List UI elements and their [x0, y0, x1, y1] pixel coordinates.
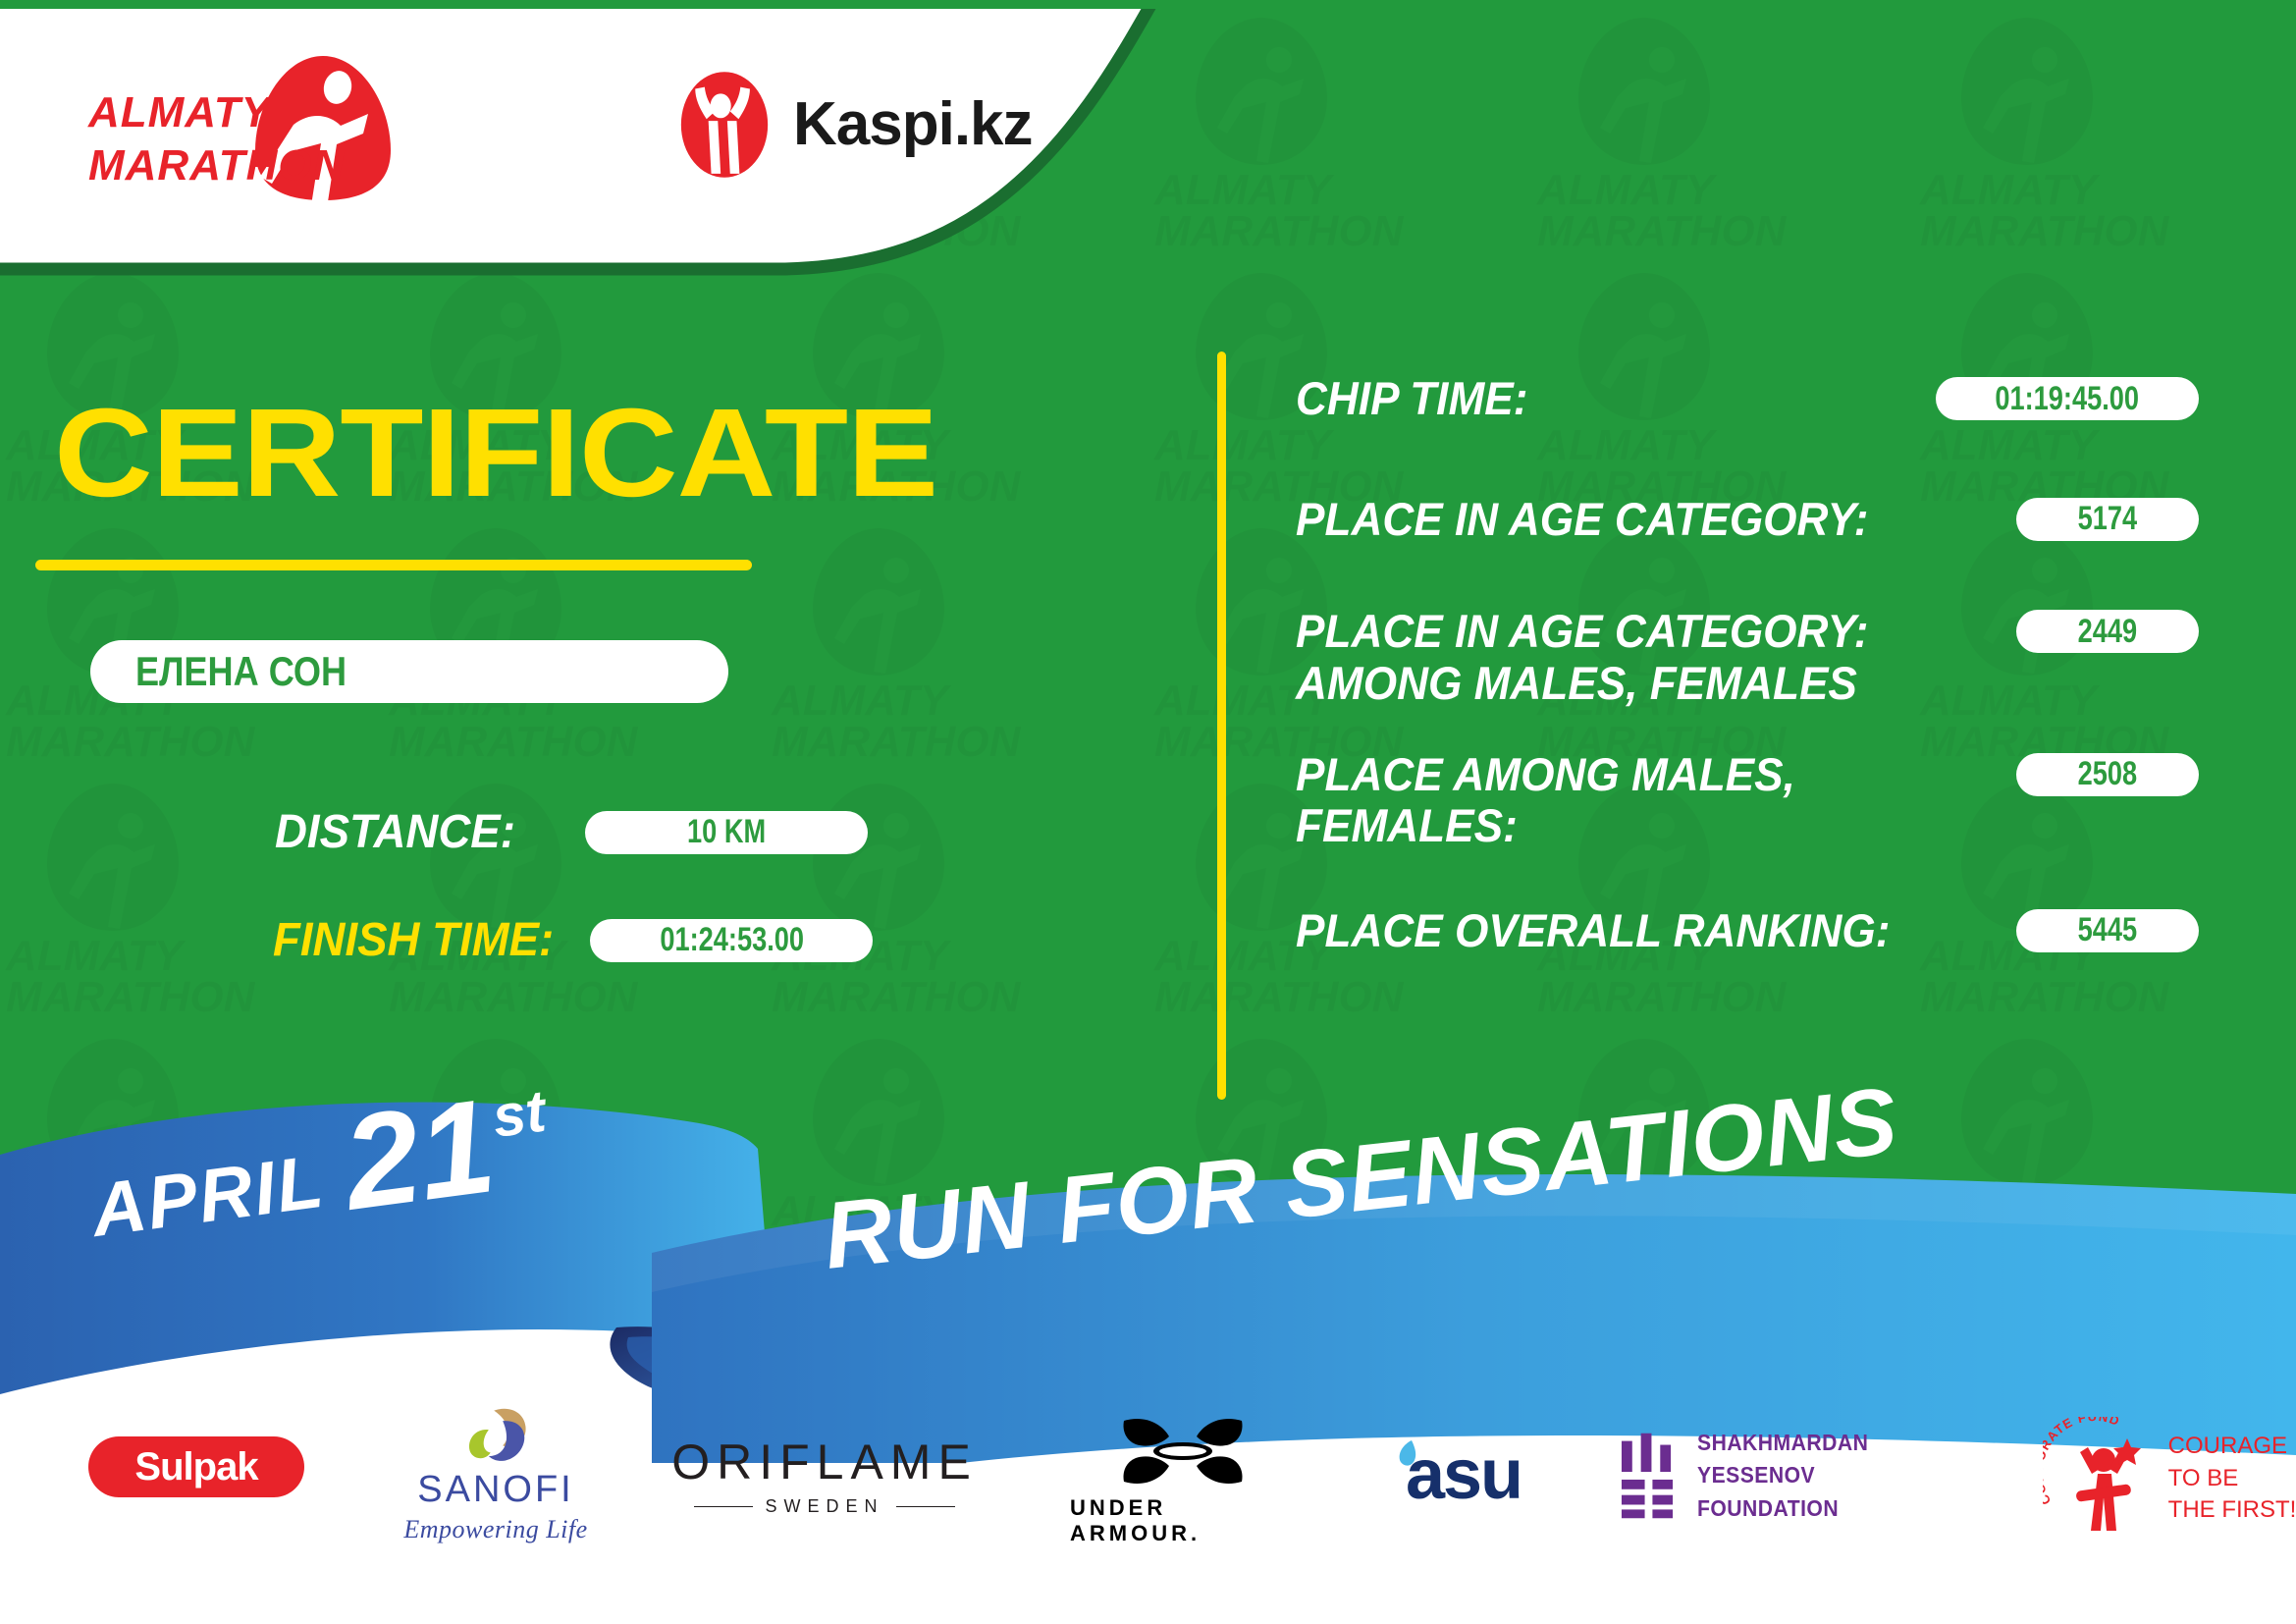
stat-row-place-age-category-gender: PLACE IN AGE CATEGORY: AMONG MALES, FEMA…: [1296, 606, 2199, 709]
courage-line-2: TO BE: [2168, 1463, 2296, 1494]
under-armour-wordmark: UNDER ARMOUR.: [1070, 1495, 1296, 1546]
kaspi-logo: Kaspi.kz: [677, 66, 1099, 184]
sponsor-logo-courage-fund: CORPORATE FUND COURAGE TO BE THE FIRST!: [2042, 1405, 2296, 1552]
distance-row: DISTANCE: 10 KM: [275, 805, 868, 859]
oriflame-wordmark: ORIFLAME: [671, 1437, 978, 1487]
title-underline: [35, 560, 752, 570]
stat-value-pill: 2449: [2016, 610, 2199, 653]
finish-time-value-pill: 01:24:53.00: [590, 919, 873, 962]
event-day-ordinal: st: [489, 1081, 549, 1146]
stat-row-place-overall: PLACE OVERALL RANKING: 5445: [1296, 905, 2199, 957]
yessenov-line-2: FOUNDATION: [1697, 1492, 1987, 1525]
sponsor-logo-asu: asu: [1364, 1421, 1551, 1529]
stat-value-pill: 2508: [2016, 753, 2199, 796]
stat-row-chip-time: CHIP TIME: 01:19:45.00: [1296, 373, 2199, 425]
stat-value-pill: 5445: [2016, 909, 2199, 952]
finish-time-value: 01:24:53.00: [660, 921, 804, 959]
results-stats-list: CHIP TIME: 01:19:45.00 PLACE IN AGE CATE…: [1296, 373, 2199, 956]
oriflame-rule-right: [896, 1506, 955, 1507]
sponsor-strip: Sulpak SANOFI Empowering Life ORIFLAME S…: [0, 1429, 2296, 1615]
stat-label: PLACE OVERALL RANKING:: [1296, 905, 1890, 957]
asu-wordmark: asu: [1406, 1439, 1522, 1510]
yessenov-line-1: SHAKHMARDAN YESSENOV: [1697, 1427, 1987, 1492]
page-title: CERTIFICATE: [54, 391, 937, 516]
corporate-fund-mark-icon: CORPORATE FUND: [2043, 1417, 2159, 1541]
stat-label: CHIP TIME:: [1296, 373, 1527, 425]
stat-value: 2508: [2078, 755, 2138, 793]
stat-label: PLACE IN AGE CATEGORY: AMONG MALES, FEMA…: [1296, 606, 1942, 709]
svg-text:ALMATY: ALMATY: [87, 88, 274, 136]
distance-value: 10 KM: [687, 813, 766, 851]
stat-value: 2449: [2078, 613, 2138, 651]
top-green-strip: [0, 0, 2296, 9]
sponsor-logo-sanofi: SANOFI Empowering Life: [383, 1407, 609, 1544]
oriflame-rule-left: [694, 1506, 753, 1507]
yessenov-wordmark: SHAKHMARDAN YESSENOV FOUNDATION: [1697, 1427, 1987, 1525]
finish-time-label: FINISH TIME:: [273, 913, 554, 967]
finish-time-row: FINISH TIME: 01:24:53.00: [273, 913, 873, 967]
courage-line-3: THE FIRST!: [2168, 1494, 2296, 1526]
stat-value: 01:19:45.00: [1996, 380, 2140, 418]
distance-value-pill: 10 KM: [585, 811, 868, 854]
courage-wordmark: COURAGE TO BE THE FIRST!: [2168, 1431, 2296, 1526]
header-logos: ALMATY MARATHON Kaspi.kz: [0, 9, 1178, 264]
oriflame-sub: SWEDEN: [677, 1496, 972, 1517]
kaspi-mark-icon: [677, 68, 772, 182]
under-armour-mark-icon: [1118, 1413, 1248, 1489]
sulpak-wordmark: Sulpak: [134, 1445, 257, 1489]
sponsor-logo-yessenov-foundation: SHAKHMARDAN YESSENOV FOUNDATION: [1620, 1417, 2012, 1535]
stat-value: 5174: [2078, 500, 2138, 538]
stat-row-place-age-category: PLACE IN AGE CATEGORY: 5174: [1296, 494, 2199, 546]
stat-value-pill: 01:19:45.00: [1936, 377, 2199, 420]
courage-line-1: COURAGE: [2168, 1431, 2296, 1462]
sanofi-wordmark: SANOFI: [417, 1469, 573, 1511]
almaty-marathon-logo: ALMATY MARATHON: [84, 48, 399, 205]
participant-name: ЕЛЕНА СОН: [135, 648, 347, 695]
vertical-divider: [1217, 352, 1226, 1100]
event-day: 21: [338, 1087, 501, 1222]
stat-label: PLACE IN AGE CATEGORY:: [1296, 494, 1868, 546]
sponsor-logo-sulpak: Sulpak: [88, 1436, 304, 1497]
svg-text:MARATHON: MARATHON: [88, 141, 346, 189]
sponsor-logo-oriflame: ORIFLAME SWEDEN: [677, 1423, 972, 1531]
kaspi-wordmark: Kaspi.kz: [793, 94, 1033, 155]
sanofi-mark-icon: [454, 1407, 537, 1465]
certificate-page: ALMATY MARATHON ALMATY MA: [0, 0, 2296, 1624]
distance-label: DISTANCE:: [275, 805, 515, 859]
stat-value: 5445: [2078, 911, 2138, 949]
oriflame-country: SWEDEN: [765, 1496, 883, 1517]
sanofi-tagline: Empowering Life: [403, 1515, 587, 1544]
sponsor-logo-under-armour: UNDER ARMOUR.: [1070, 1411, 1296, 1548]
stat-row-place-among-gender: PLACE AMONG MALES, FEMALES: 2508: [1296, 749, 2199, 852]
stat-label: PLACE AMONG MALES, FEMALES:: [1296, 749, 1942, 852]
participant-name-field: ЕЛЕНА СОН: [90, 640, 728, 703]
yessenov-mark-icon: [1620, 1433, 1676, 1519]
stat-value-pill: 5174: [2016, 498, 2199, 541]
